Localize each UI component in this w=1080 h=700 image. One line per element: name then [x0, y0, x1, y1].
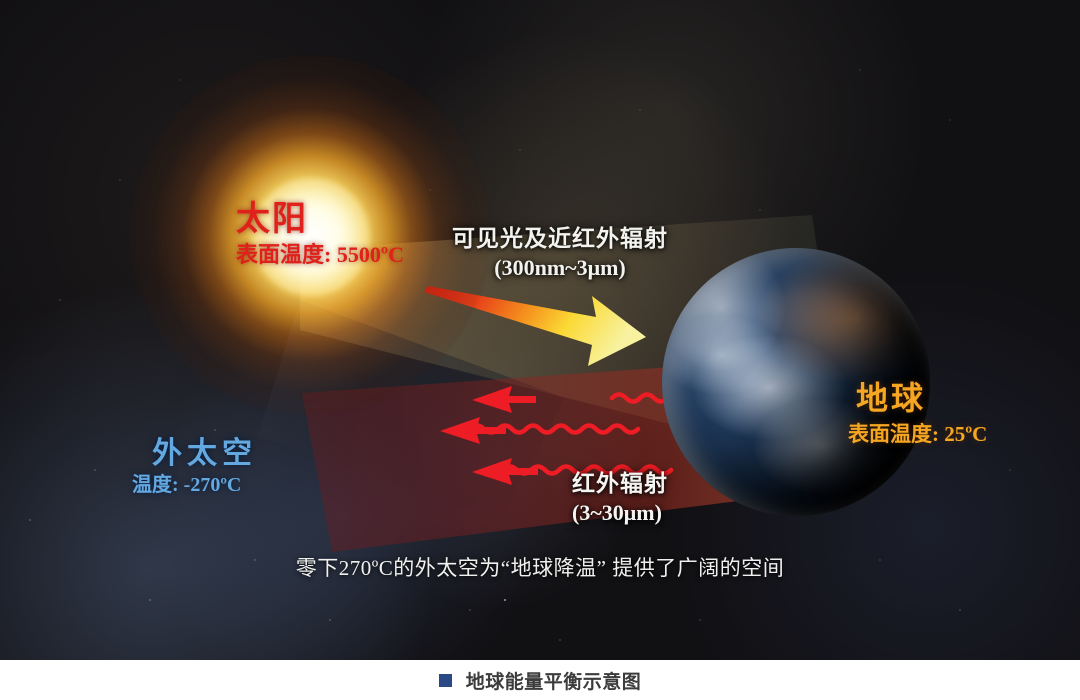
outer-space-label-detail: 温度: -270ºC [132, 474, 257, 498]
figure-caption-text: 地球能量平衡示意图 [466, 667, 642, 694]
earth-label: 地球 表面温度: 25ºC [856, 380, 987, 447]
visible-radiation-detail: (300nm~3μm) [452, 255, 668, 281]
visible-radiation-label: 可见光及近红外辐射 (300nm~3μm) [452, 225, 668, 281]
visible-radiation-title: 可见光及近红外辐射 [452, 225, 668, 252]
sun-label-title: 太阳 [236, 200, 404, 240]
figure-caption-bar: 地球能量平衡示意图 [0, 660, 1080, 700]
in-figure-caption: 零下270ºC的外太空为“地球降温” 提供了广阔的空间 [0, 552, 1080, 582]
sun-label-detail: 表面温度: 5500ºC [236, 242, 404, 268]
infrared-radiation-title: 红外辐射 [572, 470, 668, 497]
sun-label: 太阳 表面温度: 5500ºC [236, 200, 404, 268]
earth-label-detail: 表面温度: 25ºC [848, 422, 987, 447]
infrared-radiation-label: 红外辐射 (3~30μm) [572, 470, 668, 526]
earth-energy-balance-figure: 太阳 表面温度: 5500ºC 可见光及近红外辐射 (300nm~3μm) 地球… [0, 0, 1080, 660]
outer-space-label: 外太空 温度: -270ºC [152, 436, 257, 498]
square-bullet-icon [439, 674, 452, 687]
earth-label-title: 地球 [856, 380, 987, 418]
outer-space-label-title: 外太空 [152, 436, 257, 471]
infrared-radiation-detail: (3~30μm) [572, 500, 668, 526]
